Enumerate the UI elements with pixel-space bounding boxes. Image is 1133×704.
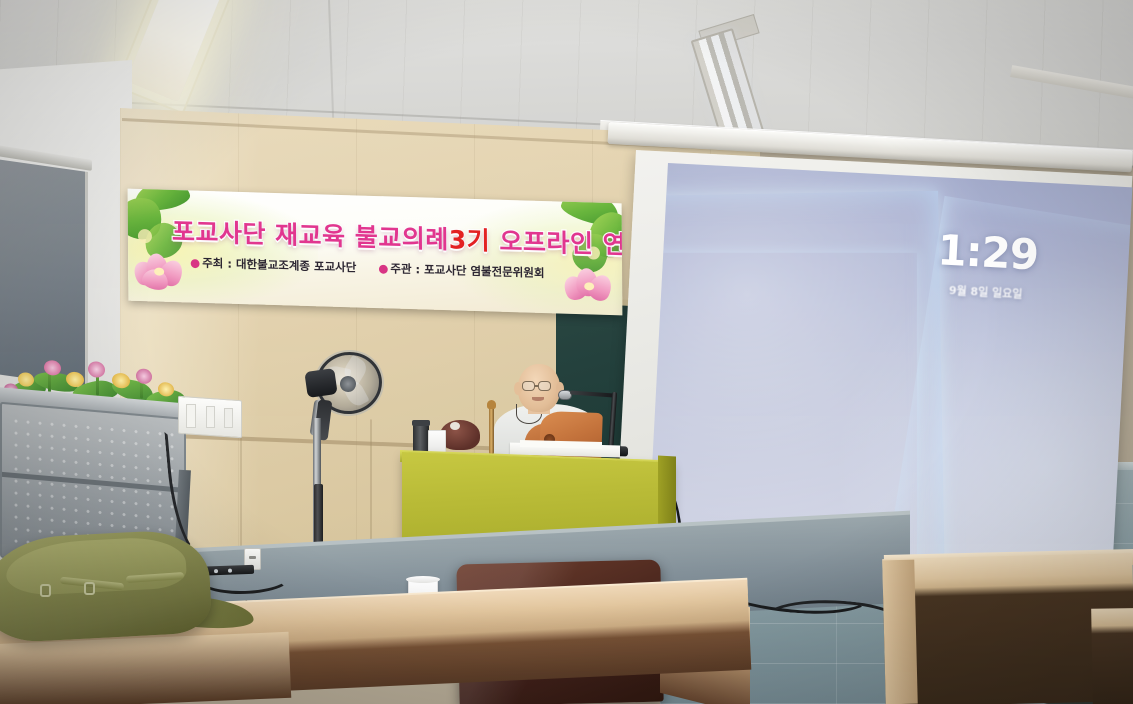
banner-title-number: 3기: [449, 225, 491, 255]
bullet-icon: ●: [190, 256, 200, 270]
banner-title-part1: 포교사단 재교육 불교의례: [172, 217, 449, 254]
banner-organizer-label: 주관 : 포교사단 염불전문위원회: [390, 261, 544, 280]
projector-screen-surface: 1:29 9월 8일 일요일: [648, 163, 1132, 565]
tumbler-lid: [412, 420, 430, 426]
backpack-buckle: [40, 584, 51, 597]
lotus-bud-icon: [138, 229, 152, 243]
wall-outlet-socket[interactable]: [186, 404, 196, 428]
leather-bag: [440, 420, 480, 450]
eyeglasses-bridge: [535, 385, 539, 387]
wall-outlet-socket[interactable]: [206, 406, 215, 428]
wooden-handle: [489, 406, 494, 454]
floor-outlet-slot: [249, 556, 256, 559]
banner-title-part2: 오프라인 연수: [499, 227, 622, 260]
monk-ear: [514, 382, 522, 395]
monk-mouth: [532, 397, 544, 401]
wall-outlet-socket[interactable]: [224, 408, 233, 428]
bag-clasp: [450, 422, 460, 430]
event-banner: 포교사단 재교육 불교의례3기 오프라인 연수 ●주최 : 대한불교조계종 포교…: [128, 189, 623, 316]
paper-cup-rim: [406, 576, 440, 583]
desk-right-side: [882, 560, 918, 704]
bullet-icon: ●: [378, 261, 388, 275]
wooden-handle-tip: [487, 400, 496, 409]
eyeglasses-lens: [522, 381, 535, 391]
desk-front-left: [0, 632, 291, 704]
backpack-buckle: [84, 582, 95, 595]
eyeglasses-lens: [538, 381, 551, 391]
lotus-flower-icon: [132, 251, 190, 293]
desk-far-right: [1091, 607, 1133, 704]
pedestal-fan-motor: [304, 368, 337, 398]
lecture-hall-photo: 포교사단 재교육 불교의례3기 오프라인 연수 ●주최 : 대한불교조계종 포교…: [0, 0, 1133, 704]
